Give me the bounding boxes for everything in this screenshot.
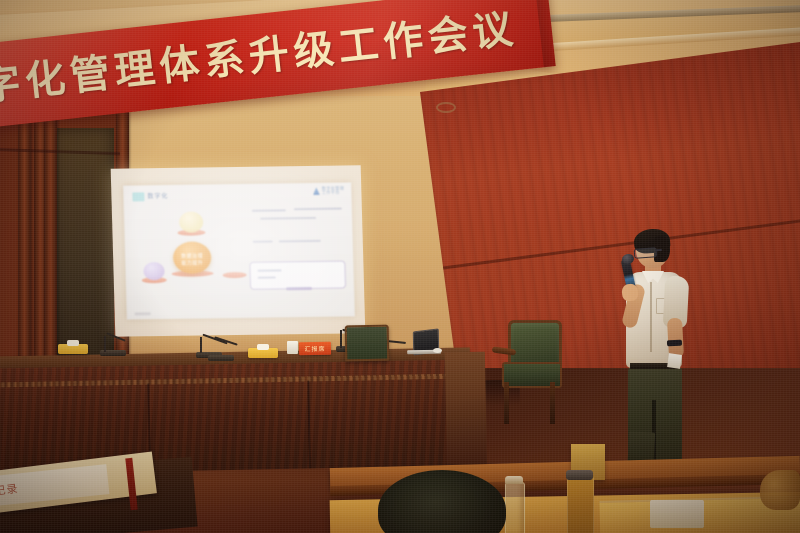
glass-water-bottle: [505, 482, 525, 533]
presenting-speaker: [612, 232, 698, 490]
bubble-label-line2: 能力提升: [173, 260, 211, 268]
chair-leg: [504, 382, 509, 424]
presidium-chair: [345, 325, 390, 362]
tissue-box: [58, 344, 88, 354]
slide-logo: 数字化管理 工作平台: [313, 187, 345, 196]
slide-text-line: [279, 240, 321, 243]
thermos-cap: [566, 470, 593, 480]
slide-footer-mark: [135, 312, 151, 315]
presidium-table-right-end: [445, 352, 487, 473]
name-placard-text: 汇报席: [299, 344, 331, 354]
slide-text-line: [260, 217, 316, 220]
chair-leg: [550, 382, 555, 424]
callout-line: [258, 276, 276, 278]
callout-line: [258, 269, 282, 271]
slide-callout-box: [249, 261, 346, 290]
shirt-placket: [650, 282, 652, 352]
document-mark: 记录: [0, 480, 19, 499]
tissue-box: [248, 348, 278, 358]
slide-text-line: [253, 241, 273, 243]
microphone-stem: [200, 337, 202, 353]
slide-text-line: [252, 209, 286, 211]
eyeglasses-icon: [634, 247, 658, 259]
conference-hall-photo: 字化管理体系升级工作会议 数字化 数字化管理 工作平台 数据治理 能力提升: [0, 0, 800, 533]
microphone-stem: [340, 330, 342, 348]
left-door-panel: [52, 128, 114, 368]
steel-thermos: [567, 476, 594, 533]
slide-title-marker-icon: [132, 192, 144, 201]
bubble-base-empty: [223, 272, 247, 278]
speaker-hand: [621, 283, 639, 302]
paper-cup: [287, 341, 298, 354]
table-wood-grain: [0, 359, 471, 474]
projection-screen: 数字化 数字化管理 工作平台 数据治理 能力提升: [111, 165, 366, 336]
bottle-cap: [505, 476, 523, 484]
name-placard: 汇报席: [299, 342, 331, 356]
slide-bubble-primary: 数据治理: [173, 241, 212, 274]
slide-text-line: [294, 208, 342, 211]
logo-text-line2: 工作平台: [322, 191, 345, 196]
microphone-base: [208, 355, 234, 361]
presentation-slide: 数字化 数字化管理 工作平台 数据治理 能力提升: [123, 182, 355, 319]
green-leather-armchair: [496, 320, 562, 428]
wristwatch-icon: [667, 340, 682, 347]
foreground-object: [760, 470, 800, 510]
presidium-table-front: [0, 359, 471, 474]
microphone-stem: [104, 336, 106, 352]
ceiling-ring-fixture: [436, 102, 456, 113]
logo-mark-icon: [313, 187, 320, 195]
speaker-notes: [667, 353, 682, 369]
tissue-box: [650, 500, 704, 528]
callout-progress-bar: [286, 287, 312, 290]
computer-mouse: [433, 348, 442, 353]
slide-title: 数字化: [147, 191, 168, 200]
